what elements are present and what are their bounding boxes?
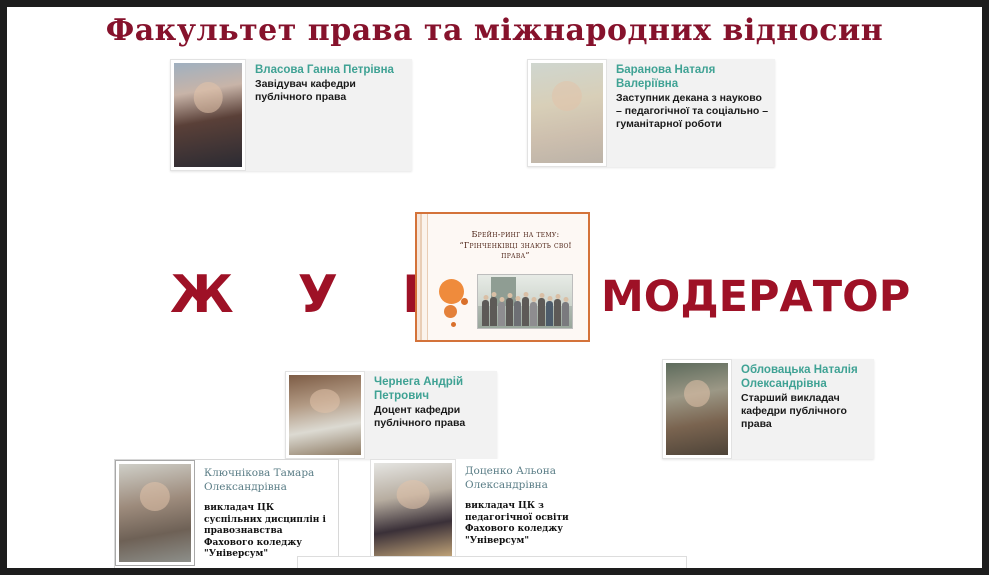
crowd-person [530,302,537,326]
orange-circle-medium-icon [444,305,457,318]
person-card-oblovatska[interactable]: Обловацька Наталія Олександрівна Старший… [662,359,874,459]
person-name-oblovatska: Обловацька Наталія Олександрівна [741,363,868,391]
crowd-person [482,300,489,326]
avatar-frame-kluchnikova [115,460,195,566]
person-card-vlasova[interactable]: Власова Ганна Петрівна Завідувач кафедри… [170,59,412,171]
avatar-face-shape [552,81,582,111]
slide-title: Брейн-ринг на тему: “Грінченківці знають… [443,230,588,262]
avatar-vlasova [174,63,242,167]
page-title: Факультет права та міжнародних відносин [7,13,982,48]
crowd-person [506,298,513,326]
person-name-kluchnikova: Ключнікова Тамара Олександрівна [204,466,332,494]
avatar-frame-vlasova [170,59,246,171]
crowd-person [538,298,545,326]
crowd-person [546,301,553,326]
person-role-chernega: Доцент кафедри публічного права [374,404,491,430]
slide-title-line1: Брейн-ринг на тему: [471,230,559,239]
person-name-vlasova: Власова Ганна Петрівна [255,63,406,77]
person-info-oblovatska: Обловацька Наталія Олександрівна Старший… [732,359,874,431]
slide-group-photo [477,274,573,329]
avatar-frame-baranova [527,59,607,167]
avatar-docenko [374,463,452,559]
person-info-vlasova: Власова Ганна Петрівна Завідувач кафедри… [246,59,412,104]
avatar-oblovatska [666,363,728,455]
crowd-person [554,299,561,326]
person-info-chernega: Чернега Андрій Петрович Доцент кафедри п… [365,371,497,430]
person-card-docenko[interactable]: Доценко Альона Олександрівна викладач ЦК… [370,459,620,563]
avatar-face-shape [397,480,430,509]
person-name-docenko: Доценко Альона Олександрівна [465,464,614,492]
avatar-face-shape [310,389,340,413]
crowd-person [562,302,569,326]
bottom-dialog-panel [297,556,687,568]
person-name-baranova: Баранова Наталя Валеріївна [616,63,769,91]
moderator-heading: МОДЕРАТОР [601,272,910,322]
crowd-person [490,297,497,326]
window-frame: Факультет права та міжнародних відносин … [0,0,989,575]
person-info-baranova: Баранова Наталя Валеріївна Заступник дек… [607,59,775,131]
crowd-person [498,302,505,326]
slide-stripe-decoration [417,214,439,340]
presentation-stage: Факультет права та міжнародних відносин … [7,7,982,568]
slide-title-line2: “Грінченківці знають свої [460,241,572,250]
person-role-oblovatska: Старший викладач кафедри публічного прав… [741,392,868,431]
person-card-chernega[interactable]: Чернега Андрій Петрович Доцент кафедри п… [285,371,497,459]
person-info-docenko: Доценко Альона Олександрівна викладач ЦК… [456,459,620,547]
slide-title-line3: права” [501,251,530,260]
avatar-face-shape [684,380,710,408]
avatar-chernega [289,375,361,455]
presentation-slide-thumbnail[interactable]: Брейн-ринг на тему: “Грінченківці знають… [415,212,590,342]
avatar-frame-oblovatska [662,359,732,459]
person-name-chernega: Чернега Андрій Петрович [374,375,491,403]
person-role-kluchnikova: викладач ЦК суспільних дисциплін і право… [204,503,332,561]
crowd-person [514,301,521,326]
orange-circle-small-icon [461,298,468,305]
avatar-frame-docenko [370,459,456,563]
person-info-kluchnikova: Ключнікова Тамара Олександрівна викладач… [195,460,338,561]
person-card-baranova[interactable]: Баранова Наталя Валеріївна Заступник дек… [527,59,775,167]
avatar-frame-chernega [285,371,365,459]
avatar-kluchnikova [119,464,191,562]
avatar-face-shape [140,482,170,511]
orange-circle-tiny-icon [451,322,456,327]
avatar-face-shape [194,82,223,113]
person-role-vlasova: Завідувач кафедри публічного права [255,78,406,104]
person-card-kluchnikova[interactable]: Ключнікова Тамара Олександрівна викладач… [114,459,339,568]
person-role-baranova: Заступник декана з науково – педагогічно… [616,92,769,131]
avatar-baranova [531,63,603,163]
person-role-docenko: викладач ЦК з педагогічної освіти Фахово… [465,501,614,547]
crowd-person [522,297,529,326]
